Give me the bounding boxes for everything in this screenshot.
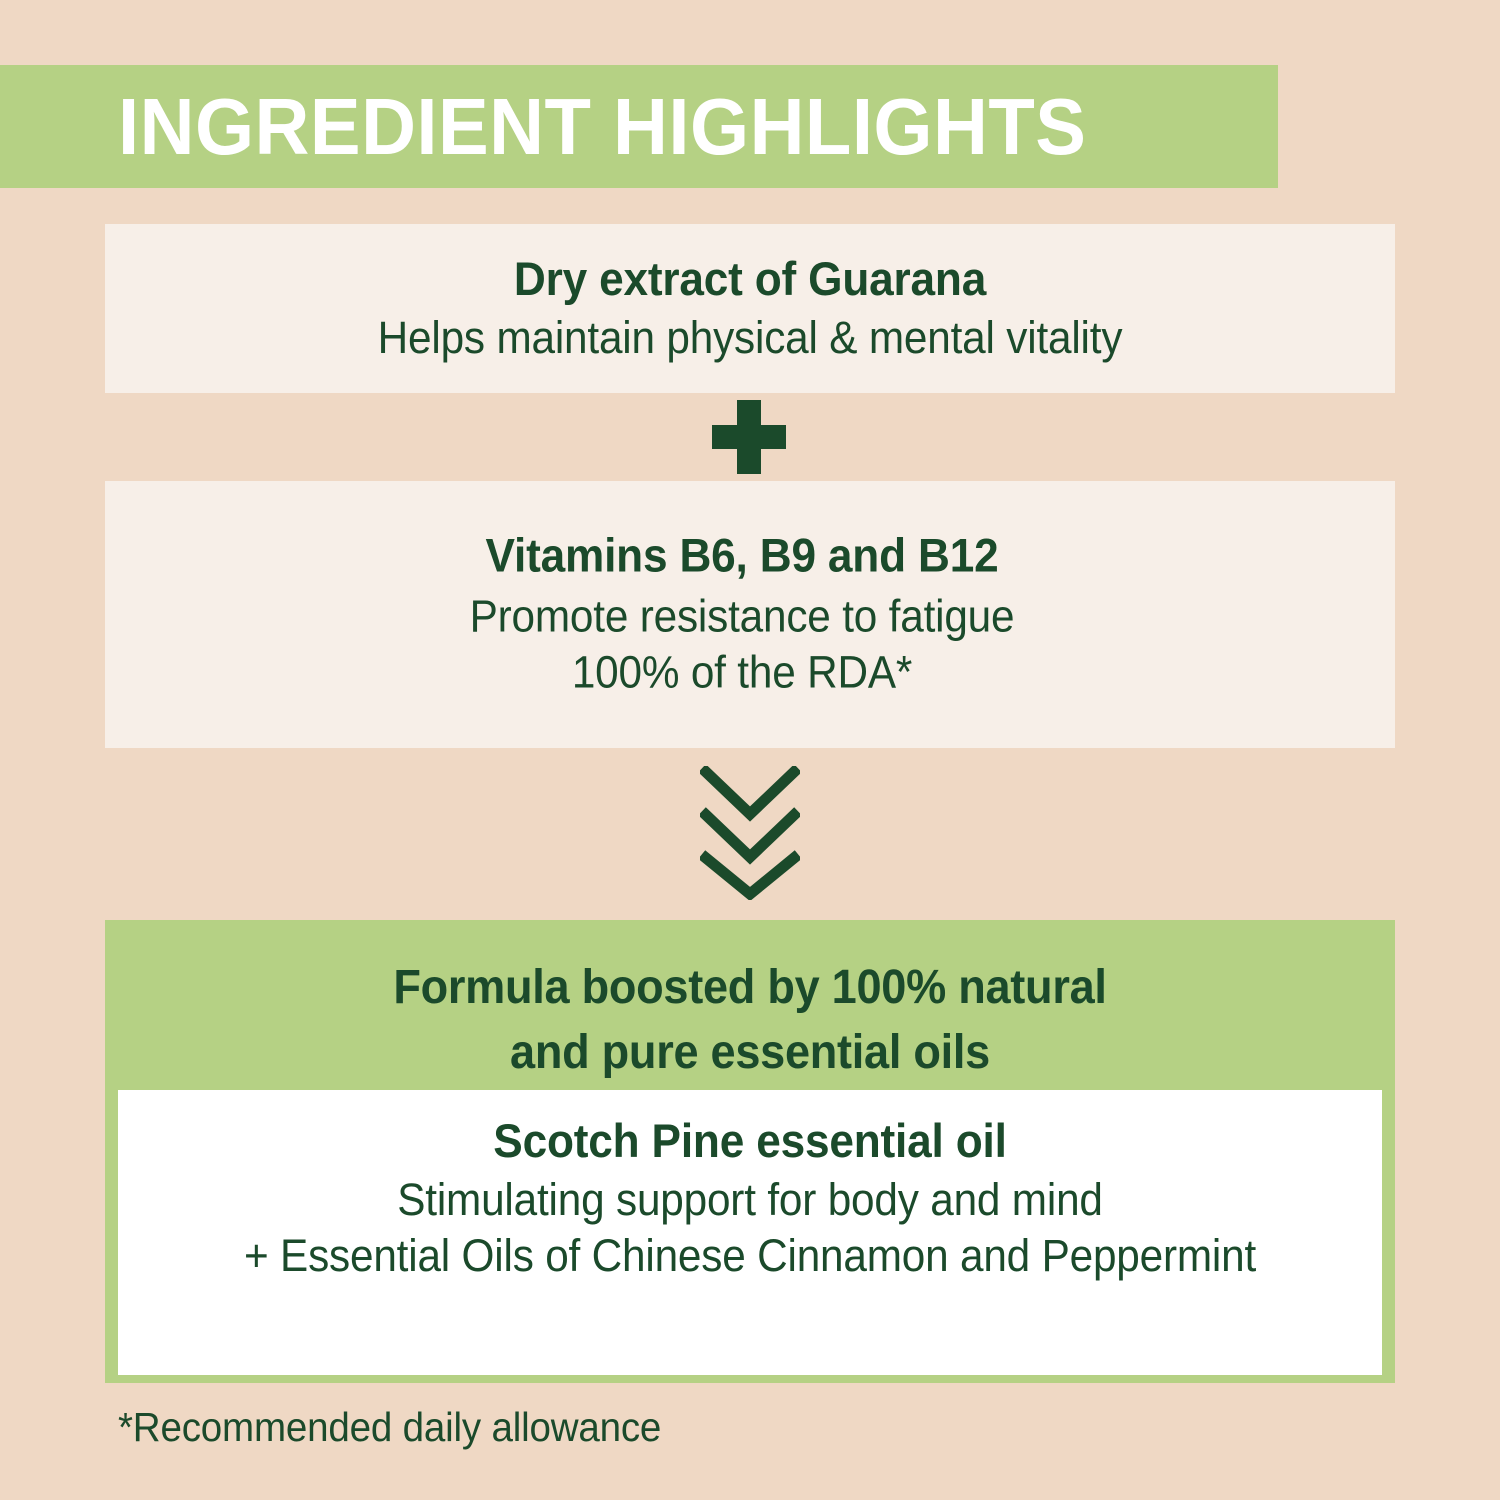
ingredient-card-guarana: Dry extract of Guarana Helps maintain ph… bbox=[105, 224, 1395, 393]
plus-icon bbox=[712, 400, 786, 474]
card-title: Scotch Pine essential oil bbox=[156, 1114, 1344, 1168]
card-content: Dry extract of Guarana Helps maintain ph… bbox=[105, 251, 1395, 365]
highlight-heading-line: Formula boosted by 100% natural bbox=[144, 956, 1357, 1021]
triple-chevron-down-icon bbox=[700, 766, 800, 900]
card-subtitle-line: 100% of the RDA* bbox=[136, 645, 1349, 701]
plus-icon-vertical-bar bbox=[737, 400, 761, 474]
page-title: INGREDIENT HIGHLIGHTS bbox=[118, 87, 1086, 167]
footnote-rda: *Recommended daily allowance bbox=[118, 1404, 661, 1451]
card-title: Dry extract of Guarana bbox=[144, 251, 1357, 305]
header-band: INGREDIENT HIGHLIGHTS bbox=[0, 65, 1278, 188]
card-subtitle-line: Helps maintain physical & mental vitalit… bbox=[144, 309, 1357, 365]
card-subtitle: Stimulating support for body and mind + … bbox=[156, 1172, 1344, 1285]
card-subtitle: Promote resistance to fatigue 100% of th… bbox=[136, 588, 1349, 701]
triple-chevron-down-svg bbox=[700, 766, 800, 900]
card-subtitle: Helps maintain physical & mental vitalit… bbox=[144, 309, 1357, 365]
card-content: Scotch Pine essential oil Stimulating su… bbox=[118, 1114, 1382, 1285]
highlight-heading: Formula boosted by 100% natural and pure… bbox=[144, 956, 1357, 1086]
ingredient-card-vitamins: Vitamins B6, B9 and B12 Promote resistan… bbox=[105, 481, 1395, 748]
highlight-heading-line: and pure essential oils bbox=[144, 1021, 1357, 1086]
card-title: Vitamins B6, B9 and B12 bbox=[136, 528, 1349, 582]
card-subtitle-line: Promote resistance to fatigue bbox=[136, 588, 1349, 644]
card-subtitle-line: + Essential Oils of Chinese Cinnamon and… bbox=[156, 1228, 1344, 1284]
essential-oils-highlight-card: Formula boosted by 100% natural and pure… bbox=[105, 920, 1395, 1383]
card-content: Vitamins B6, B9 and B12 Promote resistan… bbox=[97, 528, 1387, 701]
scotch-pine-inner-panel: Scotch Pine essential oil Stimulating su… bbox=[118, 1090, 1382, 1375]
card-subtitle-line: Stimulating support for body and mind bbox=[156, 1172, 1344, 1228]
